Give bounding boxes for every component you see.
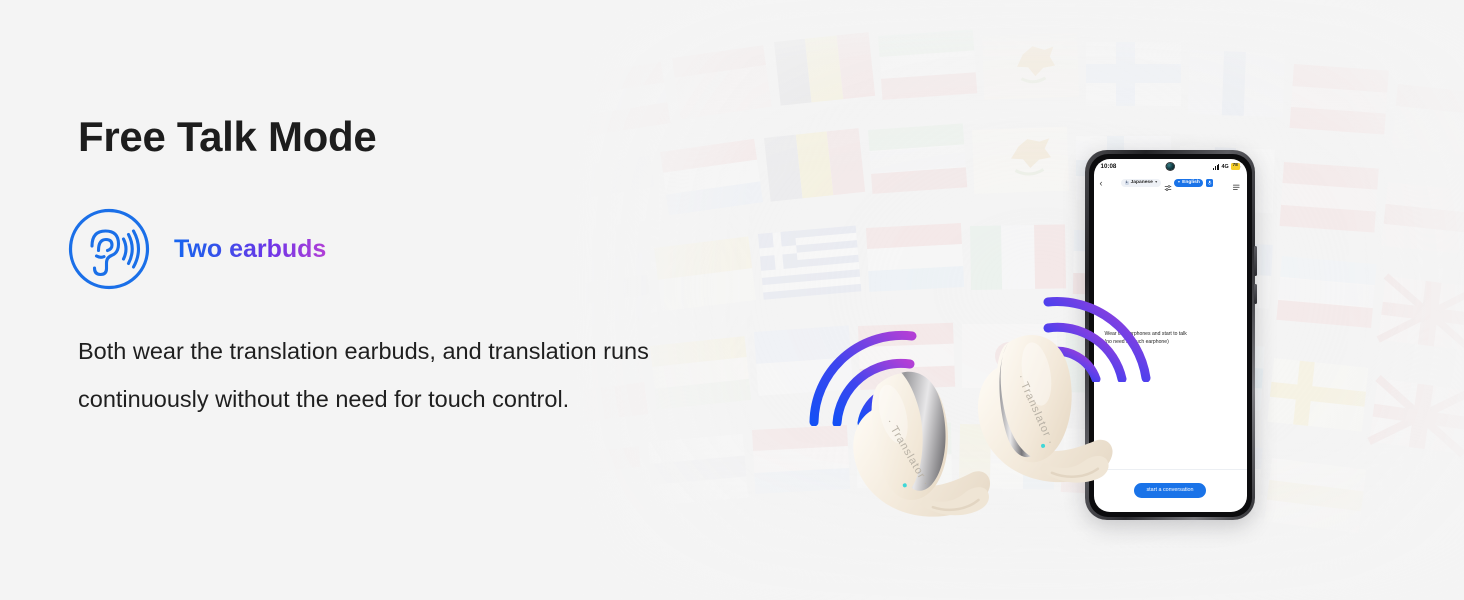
front-camera-icon <box>1166 163 1174 171</box>
start-conversation-button[interactable]: start a conversation <box>1134 483 1205 497</box>
flag-wall-background <box>560 0 1464 600</box>
source-language-badge: L <box>1125 181 1129 185</box>
promo-banner: Free Talk Mode Two earbuds Both wear the… <box>0 0 1464 600</box>
target-language-label: English <box>1182 181 1200 186</box>
signal-bars-icon <box>1213 164 1219 170</box>
feature-description: Both wear the translation earbuds, and t… <box>78 327 768 423</box>
chevron-left-icon[interactable]: ‹ <box>1100 179 1103 188</box>
ear-listening-icon <box>66 206 152 292</box>
page-title: Free Talk Mode <box>78 114 376 160</box>
target-language-chip[interactable]: ▼ English <box>1174 179 1203 187</box>
source-language-chip[interactable]: L Japanese ▼ <box>1121 179 1161 187</box>
app-toolbar: ‹ L Japanese ▼ <box>1094 175 1247 192</box>
language-selector-group: L Japanese ▼ <box>1106 179 1230 187</box>
power-button[interactable] <box>1254 284 1257 304</box>
battery-indicator: 78 <box>1231 163 1240 169</box>
phone-mockup: 10:08 4G 78 ‹ <box>1085 150 1255 520</box>
feature-heading-row: Two earbuds <box>66 206 326 292</box>
phone-screen: 10:08 4G 78 ‹ <box>1094 159 1247 512</box>
earbud-brand-text-right: · Translator · <box>1015 373 1057 448</box>
volume-button[interactable] <box>1254 246 1257 276</box>
swap-languages-icon[interactable] <box>1164 179 1172 187</box>
conversation-area: Wear the earphones and start to talk (no… <box>1094 192 1247 469</box>
microphone-button-icon[interactable] <box>1206 179 1214 187</box>
earbud-left: · Translator · <box>842 352 1002 542</box>
hint-line-2: (no need to touch earphone) <box>1105 338 1240 346</box>
network-label: 4G <box>1221 164 1228 170</box>
feature-label: Two earbuds <box>174 235 326 264</box>
menu-list-icon[interactable] <box>1232 179 1241 188</box>
conversation-footer: start a conversation <box>1094 469 1247 512</box>
earbud-brand-text-left: · Translator · <box>884 417 933 489</box>
status-time: 10:08 <box>1101 163 1117 170</box>
sound-wave-arcs-left <box>806 326 924 426</box>
status-bar: 10:08 4G 78 <box>1094 159 1247 175</box>
chevron-down-icon: ▼ <box>1154 181 1157 184</box>
conversation-hint: Wear the earphones and start to talk (no… <box>1105 330 1240 346</box>
source-language-label: Japanese <box>1131 181 1153 186</box>
chevron-down-icon-target: ▼ <box>1177 181 1180 184</box>
hint-line-1: Wear the earphones and start to talk <box>1105 330 1240 338</box>
